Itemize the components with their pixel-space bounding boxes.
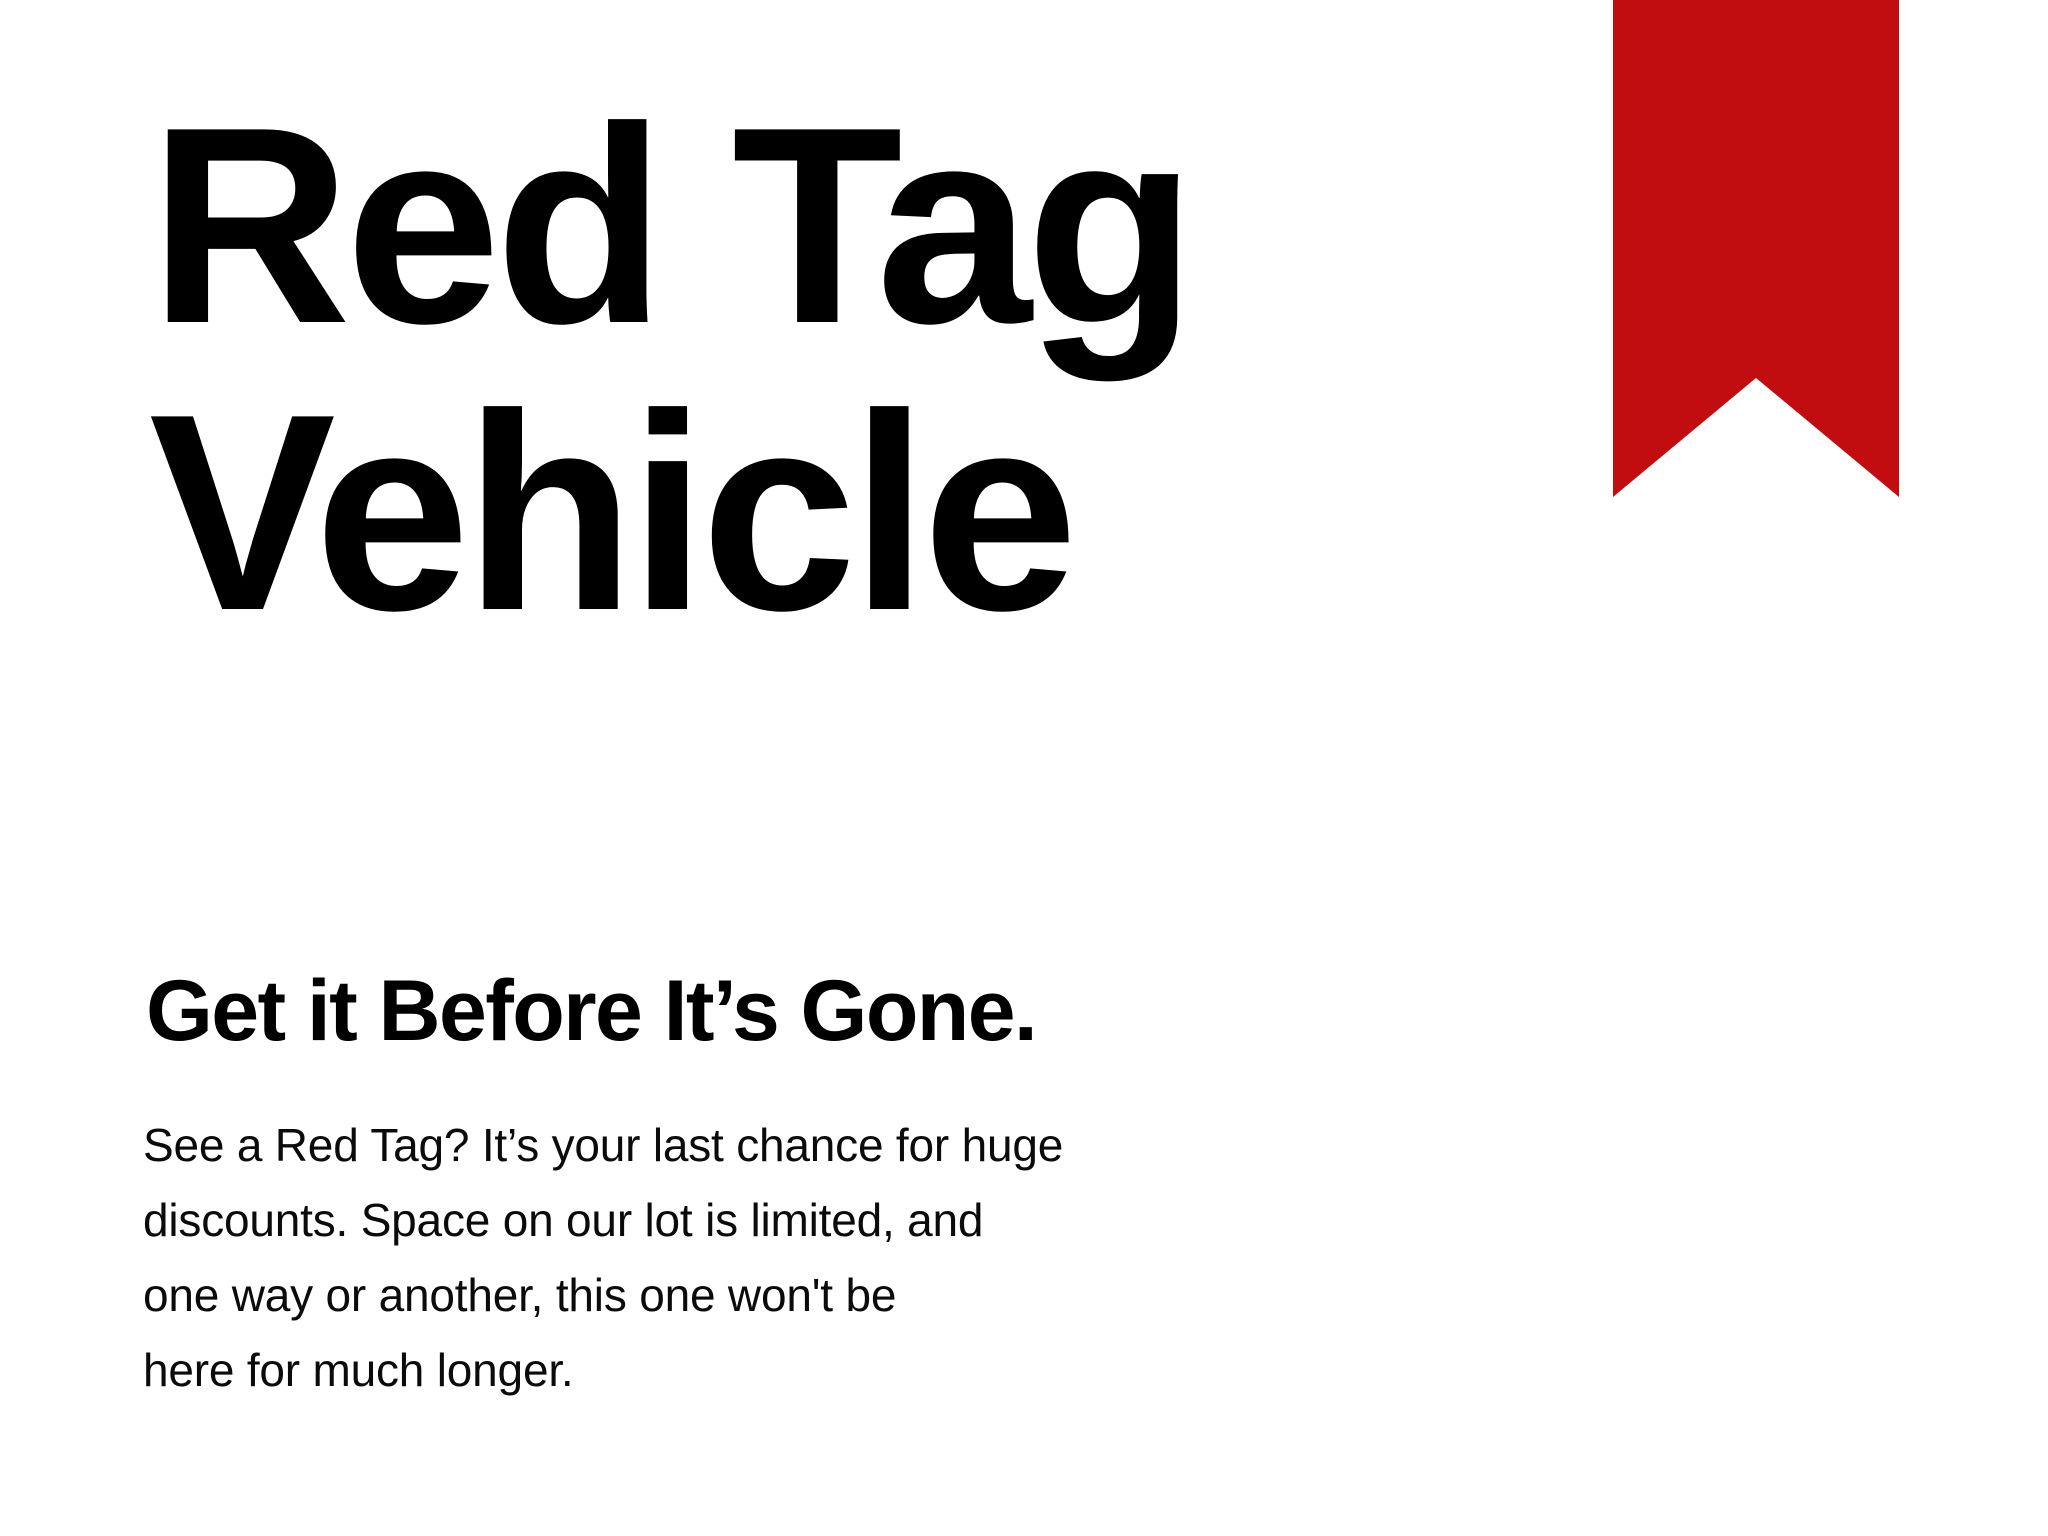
headline-line-2: Vehicle [149,370,1191,657]
red-tag-ribbon-icon [1613,0,1899,497]
body-line-3: one way or another, this one won't be [143,1258,1063,1333]
body-line-4: here for much longer. [143,1333,1063,1408]
body-line-1: See a Red Tag? It’s your last chance for… [143,1108,1063,1183]
body-line-2: discounts. Space on our lot is limited, … [143,1183,1063,1258]
ribbon-shape [1613,0,1899,497]
subheadline: Get it Before It’s Gone. [146,959,1036,1063]
body-paragraph: See a Red Tag? It’s your last chance for… [143,1108,1063,1408]
promo-banner: Red Tag Vehicle Get it Before It’s Gone.… [0,0,2048,1536]
headline-line-1: Red Tag [149,83,1191,370]
page-title: Red Tag Vehicle [149,83,1191,657]
